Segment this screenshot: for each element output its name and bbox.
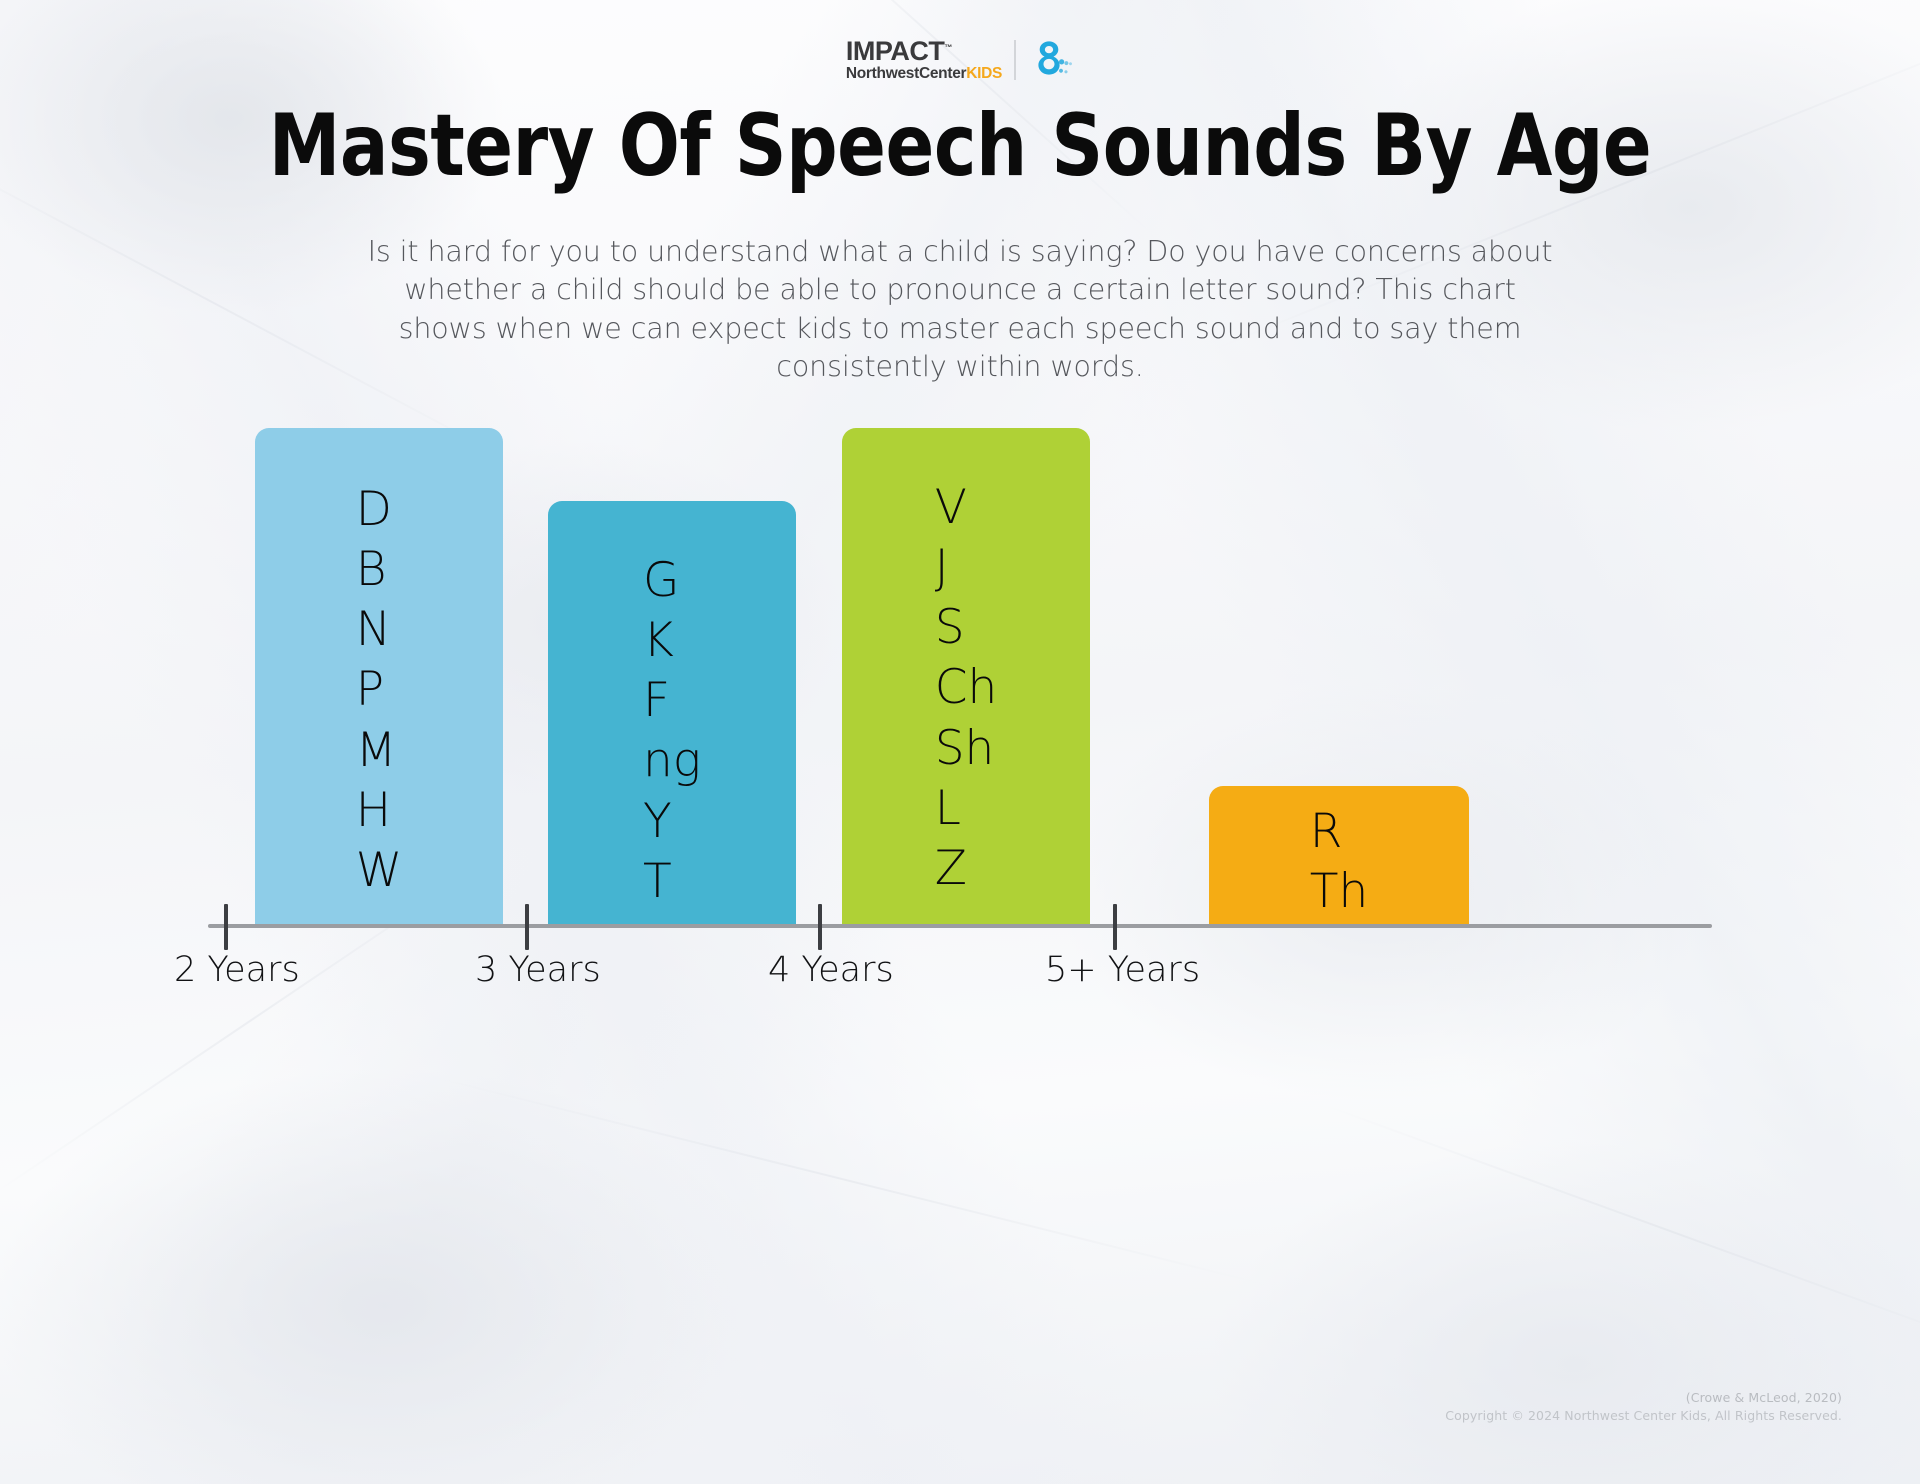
bar-4-years[interactable]: V J S Ch Sh L Z: [842, 428, 1090, 926]
logo-kids-label: KIDS: [966, 65, 1002, 82]
x-axis-label-5-plus-years: 5+ Years: [1045, 950, 1200, 990]
northwest-center-kids-mark-icon: [1028, 39, 1074, 81]
logo-impact-label: IMPACT: [846, 36, 945, 66]
bar-3-years-sounds: G K F ng Y T: [643, 551, 701, 912]
x-axis-label-4-years: 4 Years: [768, 950, 894, 990]
bar-4-years-sounds: V J S Ch Sh L Z: [935, 478, 998, 899]
bar-2-years-sounds: D B N P M H W: [356, 480, 402, 901]
footer-credits: (Crowe & McLeod, 2020) Copyright © 2024 …: [1445, 1389, 1842, 1427]
bar-2-years[interactable]: D B N P M H W: [255, 428, 503, 926]
logo-wordmark: IMPACT™ NorthwestCenterKIDS: [846, 38, 1002, 82]
speech-sounds-bar-chart: D B N P M H W G K F ng Y T V J S Ch Sh L…: [0, 0, 1920, 1484]
bar-5-plus-years[interactable]: R Th: [1209, 786, 1469, 926]
infographic-page: IMPACT™ NorthwestCenterKIDS Mastery Of S…: [0, 0, 1920, 1484]
logo-impact-text: IMPACT™: [846, 38, 952, 65]
x-axis-line: [208, 924, 1712, 928]
bar-group: D B N P M H W G K F ng Y T V J S Ch Sh L…: [200, 426, 1720, 926]
paper-crease: [1322, 1104, 1920, 1359]
paper-crease: [433, 1076, 1268, 1286]
x-axis-label-3-years: 3 Years: [475, 950, 601, 990]
logo-divider: [1014, 40, 1016, 80]
brand-logo[interactable]: IMPACT™ NorthwestCenterKIDS: [0, 38, 1920, 82]
chart-plot-area: D B N P M H W G K F ng Y T V J S Ch Sh L…: [200, 430, 1720, 990]
page-title: Mastery Of Speech Sounds By Age: [67, 103, 1853, 189]
bar-3-years[interactable]: G K F ng Y T: [548, 501, 796, 926]
page-subtitle: Is it hard for you to understand what a …: [365, 233, 1555, 387]
footer-copyright: Copyright © 2024 Northwest Center Kids, …: [1445, 1407, 1842, 1426]
x-axis-label-2-years: 2 Years: [174, 950, 300, 990]
logo-subwordmark: NorthwestCenterKIDS: [846, 66, 1002, 82]
footer-citation: (Crowe & McLeod, 2020): [1445, 1389, 1842, 1408]
trademark-icon: ™: [944, 43, 952, 52]
x-axis-labels: 2 Years 3 Years 4 Years 5+ Years: [200, 944, 1720, 990]
bar-5-plus-years-sounds: R Th: [1310, 802, 1369, 922]
logo-northwestcenter-label: NorthwestCenter: [846, 65, 966, 82]
